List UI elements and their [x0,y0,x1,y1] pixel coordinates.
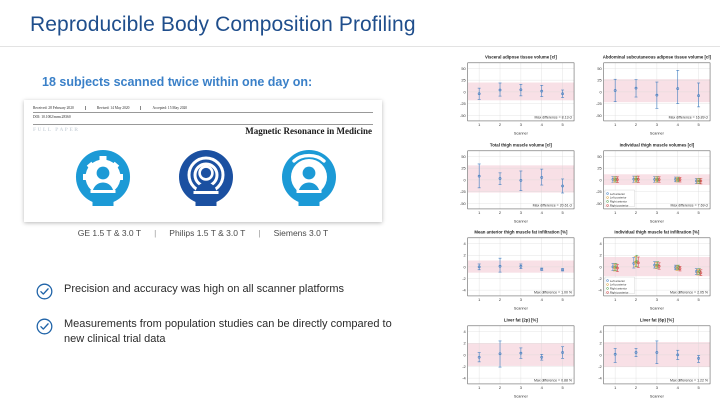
y-tick-label: -4 [462,288,466,293]
chart-svg: Mean anterior thigh muscle fat infiltrat… [448,227,578,313]
x-tick-label: 5 [561,210,564,215]
chart-panel: Abdominal subcutaneous adipose tissue vo… [584,52,714,138]
chart-svg: Total thigh muscle volume [cl]-50-250255… [448,140,578,226]
card-divider-top [33,112,373,113]
x-tick-label: 2 [499,298,501,303]
journal-article-card: Received: 28 February 2020 Revised: 14 M… [24,100,382,222]
x-tick-label: 1 [478,122,480,127]
y-tick-label: 0 [464,265,467,270]
max-difference-annotation: Max difference = 7.69 cl [671,203,709,207]
x-tick-label: 4 [541,385,544,390]
x-tick-label: 3 [656,122,659,127]
chart-title: Liver fat (6p) [%] [640,318,674,323]
list-item: Precision and accuracy was high on all s… [36,282,436,300]
x-tick-label: 1 [614,122,616,127]
chart-panel: Liver fat (2p) [%]-4-202412345ScannerMax… [448,315,578,401]
x-tick-label: 2 [499,385,501,390]
y-tick-label: -25 [596,189,602,194]
max-difference-annotation: Max difference = 8.13 cl [535,115,573,119]
y-tick-label: 0 [600,89,603,94]
y-tick-label: 25 [597,165,602,170]
y-tick-label: 0 [464,352,467,357]
y-tick-label: -50 [460,113,466,118]
list-item-label: Measurements from population studies can… [64,317,394,347]
chart-svg: Abdominal subcutaneous adipose tissue vo… [584,52,714,138]
chart-svg: Individual thigh muscle fat infiltration… [584,227,714,313]
article-received-date: Received: 28 February 2020 [33,106,86,110]
y-tick-label: 2 [600,341,602,346]
y-tick-label: 0 [600,177,603,182]
ge-scanner-logo [66,148,140,206]
siemens-scanner-logo [272,148,346,206]
chart-title: Visceral adipose tissue volume [cl] [485,54,557,59]
x-tick-label: 3 [520,385,523,390]
y-tick-label: -25 [460,189,466,194]
x-tick-label: 5 [561,385,564,390]
x-tick-label: 2 [635,210,637,215]
scanner-caption-philips: Philips 1.5 T & 3.0 T [169,228,245,238]
y-tick-label: 4 [464,329,467,334]
chart-svg: Liver fat (6p) [%]-4-202412345ScannerMax… [584,315,714,401]
article-dates: Received: 28 February 2020 Revised: 14 M… [33,106,343,110]
y-tick-label: 25 [597,78,602,83]
y-tick-label: -2 [462,364,466,369]
x-tick-label: 5 [561,298,564,303]
max-difference-annotation: Max difference = 0.88 % [534,378,573,382]
y-tick-label: 4 [600,241,603,246]
y-tick-label: -50 [596,113,602,118]
x-tick-label: 1 [614,210,616,215]
legend-label: Right posterior [610,291,629,295]
max-difference-annotation: Max difference = 1.22 % [670,378,709,382]
x-axis-label: Scanner [650,219,665,223]
x-tick-label: 4 [677,298,680,303]
y-tick-label: -50 [460,200,466,205]
chart-panel: Mean anterior thigh muscle fat infiltrat… [448,227,578,313]
x-tick-label: 4 [677,122,680,127]
x-axis-label: Scanner [650,394,665,398]
x-tick-label: 4 [541,122,544,127]
y-tick-label: -25 [460,101,466,106]
x-tick-label: 4 [677,210,680,215]
x-tick-label: 3 [656,210,659,215]
x-axis-label: Scanner [514,307,529,311]
chart-panel: Visceral adipose tissue volume [cl]-50-2… [448,52,578,138]
y-tick-label: 2 [464,341,466,346]
y-tick-label: 0 [600,352,603,357]
check-circle-icon [36,318,53,335]
x-tick-label: 5 [697,298,700,303]
philips-scanner-logo [169,148,243,206]
x-tick-label: 5 [697,385,700,390]
title-divider [0,46,720,47]
x-tick-label: 5 [561,122,564,127]
list-item: Measurements from population studies can… [36,317,436,347]
x-tick-label: 1 [478,210,480,215]
x-tick-label: 2 [635,298,637,303]
y-tick-label: -25 [596,101,602,106]
x-tick-label: 5 [697,122,700,127]
chart-panel: Individual thigh muscle fat infiltration… [584,227,714,313]
x-tick-label: 3 [656,385,659,390]
x-tick-label: 1 [614,298,616,303]
x-tick-label: 3 [520,122,523,127]
x-tick-label: 1 [478,385,480,390]
y-tick-label: 50 [597,154,602,159]
y-tick-label: -4 [598,376,602,381]
scanner-caption-siemens: Siemens 3.0 T [274,228,329,238]
article-accepted-date: Accepted: 15 May 2020 [152,106,198,110]
scanner-logo-row [24,148,382,206]
x-tick-label: 4 [541,298,544,303]
y-tick-label: 25 [461,165,466,170]
reproducibility-chart-grid: Visceral adipose tissue volume [cl]-50-2… [448,52,714,400]
check-circle-icon [36,283,53,300]
subtitle-text: 18 subjects scanned twice within one day… [42,75,312,89]
x-tick-label: 3 [656,298,659,303]
x-tick-label: 4 [677,385,680,390]
y-tick-label: -4 [598,288,602,293]
key-findings-list: Precision and accuracy was high on all s… [36,282,436,364]
left-content-panel: 18 subjects scanned twice within one day… [0,50,440,405]
chart-panel: Total thigh muscle volume [cl]-50-250255… [448,140,578,226]
x-tick-label: 2 [499,122,501,127]
y-tick-label: 4 [600,329,603,334]
max-difference-annotation: Max difference = 1.00 % [534,291,573,295]
y-tick-label: -50 [596,200,602,205]
max-difference-annotation: Max difference = 2.05 % [670,291,709,295]
y-tick-label: -2 [598,276,602,281]
chart-svg: Visceral adipose tissue volume [cl]-50-2… [448,52,578,138]
x-axis-label: Scanner [514,131,529,135]
chart-svg: Liver fat (2p) [%]-4-202412345ScannerMax… [448,315,578,401]
chart-panel: Liver fat (6p) [%]-4-202412345ScannerMax… [584,315,714,401]
x-tick-label: 3 [520,298,523,303]
y-tick-label: 25 [461,78,466,83]
max-difference-annotation: Max difference = 20.61 cl [533,203,573,207]
scanner-caption-row: GE 1.5 T & 3.0 T | Philips 1.5 T & 3.0 T… [24,228,382,238]
journal-name: Magnetic Resonance in Medicine [245,126,372,136]
y-tick-label: 0 [600,265,603,270]
chart-svg: Individual thigh muscle volumes [cl]-50-… [584,140,714,226]
x-axis-label: Scanner [514,394,529,398]
x-tick-label: 2 [635,122,637,127]
caption-separator-1: | [141,228,169,238]
caption-separator-2: | [245,228,273,238]
y-tick-label: 50 [461,154,466,159]
chart-title: Abdominal subcutaneous adipose tissue vo… [603,54,712,59]
article-doi: DOI: 10.1002/mrm.28360 [33,115,71,119]
chart-title: Individual thigh muscle volumes [cl] [620,142,695,147]
x-tick-label: 2 [499,210,501,215]
scanner-caption-ge: GE 1.5 T & 3.0 T [78,228,141,238]
x-tick-label: 2 [635,385,637,390]
x-axis-label: Scanner [650,307,665,311]
x-axis-label: Scanner [650,131,665,135]
y-tick-label: 0 [464,89,467,94]
y-tick-label: 4 [464,241,467,246]
chart-title: Mean anterior thigh muscle fat infiltrat… [474,230,568,235]
card-divider-bottom [33,124,373,125]
y-tick-label: 2 [464,253,466,258]
x-tick-label: 1 [478,298,480,303]
y-tick-label: -2 [598,364,602,369]
x-tick-label: 1 [614,385,616,390]
chart-title: Liver fat (2p) [%] [504,318,538,323]
page-title: Reproducible Body Composition Profiling [30,13,416,37]
chart-panel: Individual thigh muscle volumes [cl]-50-… [584,140,714,226]
y-tick-label: 2 [600,253,602,258]
x-axis-label: Scanner [514,219,529,223]
chart-title: Individual thigh muscle fat infiltration… [614,230,699,235]
y-tick-label: 50 [461,66,466,71]
legend-label: Right posterior [610,203,629,207]
x-tick-label: 4 [541,210,544,215]
article-type-label: FULL PAPER [33,128,80,133]
chart-title: Total thigh muscle volume [cl] [490,142,553,147]
max-difference-annotation: Max difference = 16.89 cl [669,115,709,119]
y-tick-label: -4 [462,376,466,381]
article-revised-date: Revised: 14 May 2020 [97,106,142,110]
list-item-label: Precision and accuracy was high on all s… [64,282,344,297]
x-tick-label: 3 [520,210,523,215]
y-tick-label: 50 [597,66,602,71]
y-tick-label: -2 [462,276,466,281]
x-tick-label: 5 [697,210,700,215]
y-tick-label: 0 [464,177,467,182]
